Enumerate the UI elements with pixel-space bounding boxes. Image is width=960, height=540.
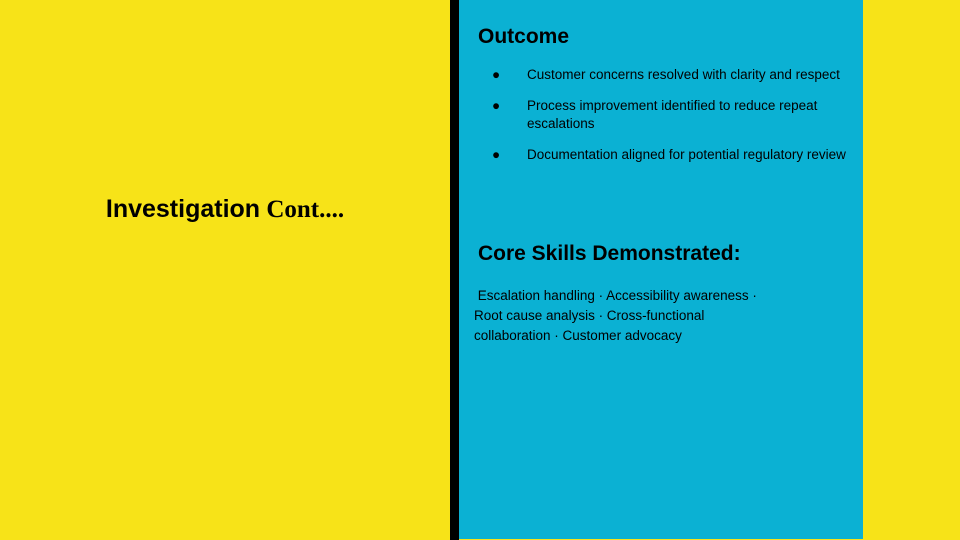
page-title: Investigation Cont.... bbox=[106, 193, 344, 226]
list-item: ● Customer concerns resolved with clarit… bbox=[478, 66, 863, 84]
list-item-label: Process improvement identified to reduce… bbox=[527, 98, 817, 131]
vertical-divider bbox=[450, 0, 459, 540]
list-item-label: Documentation aligned for potential regu… bbox=[527, 147, 846, 162]
page-title-part-two: Cont.... bbox=[260, 196, 344, 223]
list-item: ● Process improvement identified to redu… bbox=[478, 97, 863, 133]
bullet-dot-icon: ● bbox=[492, 97, 500, 115]
bullet-dot-icon: ● bbox=[492, 146, 500, 164]
page-title-part-one: Investigation bbox=[106, 195, 260, 223]
core-skills-text: Escalation handling · Accessibility awar… bbox=[474, 286, 774, 346]
title-pane: Investigation Cont.... bbox=[0, 0, 450, 540]
slide-canvas: Investigation Cont.... Outcome ● Custome… bbox=[0, 0, 960, 540]
bullet-dot-icon: ● bbox=[492, 66, 500, 84]
core-skills-heading: Core Skills Demonstrated: bbox=[478, 241, 741, 267]
content-pane: Outcome ● Customer concerns resolved wit… bbox=[459, 0, 863, 539]
outcome-heading: Outcome bbox=[478, 24, 569, 50]
outcome-bullet-list: ● Customer concerns resolved with clarit… bbox=[478, 66, 863, 164]
title-block: Investigation Cont.... bbox=[0, 193, 450, 226]
list-item-label: Customer concerns resolved with clarity … bbox=[527, 67, 840, 82]
list-item: ● Documentation aligned for potential re… bbox=[478, 146, 863, 164]
